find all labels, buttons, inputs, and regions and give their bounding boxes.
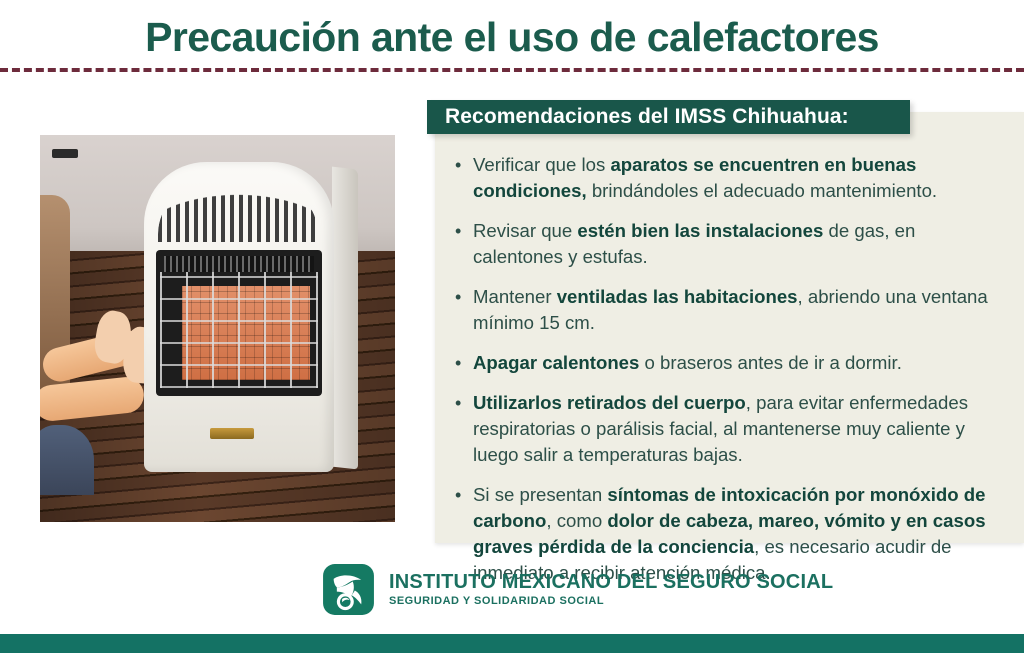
recommendations-header-label: Recomendaciones del IMSS Chihuahua: — [427, 105, 849, 129]
heater-side-panel — [332, 167, 358, 470]
plain-text: Verificar que los — [473, 154, 610, 175]
heater-top-vent — [158, 184, 318, 242]
page-title: Precaución ante el uso de calefactores — [0, 12, 1024, 62]
recommendation-item: •Mantener ventiladas las habitaciones, a… — [455, 284, 1003, 336]
heater-burner-frame — [156, 250, 322, 396]
recommendation-text: Revisar que estén bien las instalaciones… — [473, 218, 1003, 270]
heater-brand-badge — [210, 428, 254, 439]
bullet-marker-icon: • — [455, 218, 473, 244]
dashed-divider — [0, 68, 1024, 72]
recommendation-text: Apagar calentones o braseros antes de ir… — [473, 350, 1003, 376]
imss-logo-text: INSTITUTO MEXICANO DEL SEGURO SOCIAL SEG… — [389, 571, 833, 608]
heater-safety-grill — [160, 272, 318, 388]
plain-text: , como — [546, 510, 607, 531]
plain-text: o braseros antes de ir a dormir. — [639, 352, 902, 373]
recommendation-item: •Utilizarlos retirados del cuerpo, para … — [455, 390, 1003, 468]
plain-text: Mantener — [473, 286, 557, 307]
recommendation-item: •Verificar que los aparatos se encuentre… — [455, 152, 1003, 204]
emphasis-text: estén bien las instalaciones — [577, 220, 823, 241]
bullet-marker-icon: • — [455, 390, 473, 416]
emphasis-text: Apagar calentones — [473, 352, 639, 373]
emphasis-text: ventiladas las habitaciones — [557, 286, 798, 307]
imss-institution-name: INSTITUTO MEXICANO DEL SEGURO SOCIAL — [389, 571, 833, 593]
bullet-marker-icon: • — [455, 482, 473, 508]
heater-photo — [40, 135, 395, 522]
heater-burner-louvre — [164, 256, 314, 272]
recommendation-text: Utilizarlos retirados del cuerpo, para e… — [473, 390, 1003, 468]
recommendation-text: Mantener ventiladas las habitaciones, ab… — [473, 284, 1003, 336]
plain-text: Revisar que — [473, 220, 577, 241]
recommendation-item: •Apagar calentones o braseros antes de i… — [455, 350, 1003, 376]
plain-text: Si se presentan — [473, 484, 607, 505]
heater-front-panel — [144, 162, 334, 472]
bullet-marker-icon: • — [455, 152, 473, 178]
photo-wall-hook — [52, 149, 78, 158]
bullet-marker-icon: • — [455, 350, 473, 376]
recommendation-item: •Revisar que estén bien las instalacione… — [455, 218, 1003, 270]
infographic-slide: Precaución ante el uso de calefactores — [0, 0, 1024, 653]
photo-wall-heater — [144, 162, 344, 472]
bottom-accent-bar — [0, 634, 1024, 653]
emphasis-text: Utilizarlos retirados del cuerpo — [473, 392, 746, 413]
plain-text: brindándoles el adecuado mantenimiento. — [587, 180, 937, 201]
imss-tagline: SEGURIDAD Y SOLIDARIDAD SOCIAL — [389, 594, 833, 608]
recommendations-list: •Verificar que los aparatos se encuentre… — [455, 152, 1003, 600]
recommendation-text: Verificar que los aparatos se encuentren… — [473, 152, 1003, 204]
imss-emblem-icon — [322, 563, 375, 616]
bullet-marker-icon: • — [455, 284, 473, 310]
imss-logo: INSTITUTO MEXICANO DEL SEGURO SOCIAL SEG… — [322, 563, 833, 616]
recommendations-header-bar: Recomendaciones del IMSS Chihuahua: — [427, 100, 910, 134]
